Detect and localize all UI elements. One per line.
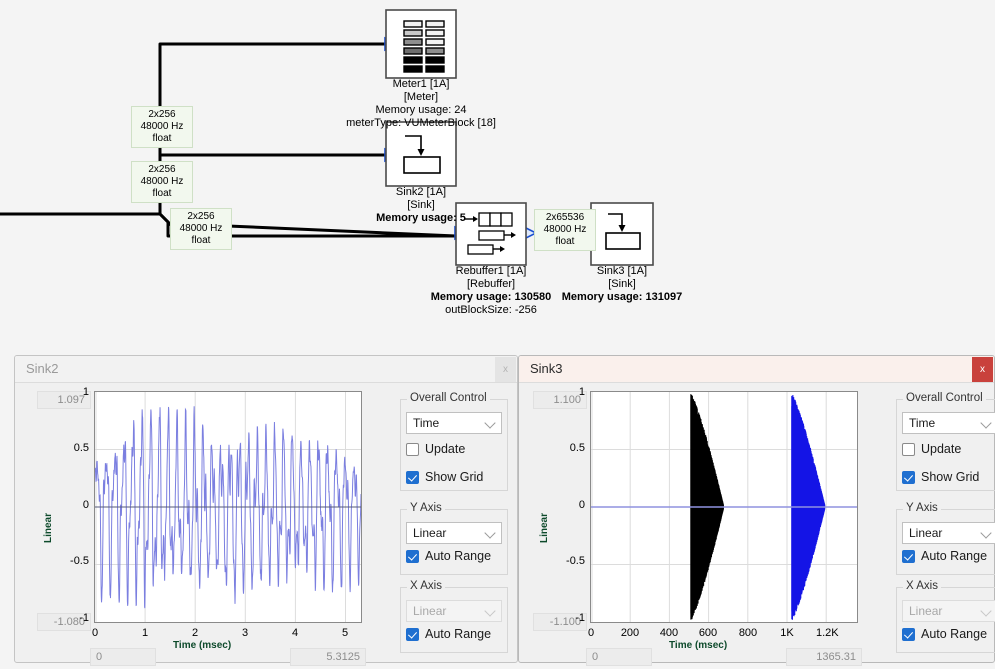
x-axis-title-sink2: X Axis (407, 580, 445, 592)
x-auto-range-checkbox-sink2[interactable] (406, 628, 419, 641)
ytick-sink2-m0p5: -0.5 (53, 555, 89, 567)
scope-window-sink3[interactable]: Sink3 x 1.100 -1.100 0 1365.31 1 0.5 0 -… (518, 355, 995, 663)
meter1-extra: meterType: VUMeterBlock [18] (330, 117, 512, 130)
block-diagram-canvas[interactable]: Meter1 [1A] [Meter] Memory usage: 24 met… (0, 0, 995, 345)
signal-label-3[interactable]: 2x256 48000 Hz float (170, 208, 232, 250)
update-label-sink3: Update (921, 442, 961, 456)
overall-control-title-sink2: Overall Control (407, 392, 490, 404)
y-axis-title-sink2: Y Axis (407, 502, 445, 514)
block-label-sink3: Sink3 [1A] [Sink] Memory usage: 131097 (541, 265, 703, 304)
yaxis-title-sink2: Linear (43, 513, 54, 543)
xtick-sink3-200: 200 (620, 627, 640, 639)
scope-body-sink3: 1.100 -1.100 0 1365.31 1 0.5 0 -0.5 -1 L… (519, 383, 994, 662)
ytick-sink3-1: 1 (549, 386, 585, 398)
plot-area-sink3[interactable] (590, 391, 858, 623)
sink3-type: [Sink] (541, 278, 703, 291)
scope-window-sink2[interactable]: Sink2 x 1.097 -1.080 0 5.3125 1 0.5 0 -0… (14, 355, 518, 663)
ytick-sink2-0p5: 0.5 (53, 442, 89, 454)
xtick-sink3-1p2k: 1.2K (816, 627, 838, 639)
y-scale-select-sink2[interactable]: Linear (406, 522, 502, 544)
ytick-sink2-0: 0 (53, 499, 89, 511)
chevron-down-icon (484, 527, 495, 538)
update-checkbox-row-sink3[interactable]: Update (902, 442, 961, 456)
titlebar-sink2[interactable]: Sink2 x (15, 356, 517, 383)
xaxis-title-sink3: Time (msec) (669, 640, 727, 651)
xtick-sink3-600: 600 (698, 627, 718, 639)
y-auto-range-checkbox-sink2[interactable] (406, 550, 419, 563)
rebuffer1-extra: outBlockSize: -256 (410, 304, 572, 317)
scope-body-sink2: 1.097 -1.080 0 5.3125 1 0.5 0 -0.5 -1 Li… (15, 383, 517, 662)
xtick-sink2-4: 4 (285, 627, 305, 639)
y-auto-range-checkbox-sink3[interactable] (902, 550, 915, 563)
x-auto-range-row-sink3[interactable]: Auto Range (902, 627, 987, 641)
y-scale-select-sink3[interactable]: Linear (902, 522, 995, 544)
ytick-sink3-m1: -1 (549, 612, 585, 624)
ytick-sink3-0p5: 0.5 (549, 442, 585, 454)
update-checkbox-row-sink2[interactable]: Update (406, 442, 465, 456)
sink3-memory: Memory usage: 131097 (541, 291, 703, 304)
ytick-sink2-m1: -1 (53, 612, 89, 624)
ytick-sink3-0: 0 (549, 499, 585, 511)
chevron-down-icon (484, 417, 495, 428)
meter1-memory: Memory usage: 24 (330, 104, 512, 117)
yaxis-title-sink3: Linear (539, 513, 550, 543)
chevron-down-icon (980, 605, 991, 616)
mode-select-sink3[interactable]: Time (902, 412, 995, 434)
chevron-down-icon (484, 605, 495, 616)
window-title-sink3: Sink3 (530, 361, 563, 376)
x-max-readout-sink3: 1365.31 (786, 648, 862, 666)
titlebar-sink3[interactable]: Sink3 x (519, 356, 994, 383)
xtick-sink2-2: 2 (185, 627, 205, 639)
xtick-sink2-1: 1 (135, 627, 155, 639)
y-auto-range-label-sink3: Auto Range (921, 549, 987, 563)
ytick-sink3-m0p5: -0.5 (549, 555, 585, 567)
ytick-sink2-1: 1 (53, 386, 89, 398)
block-label-meter1: Meter1 [1A] [Meter] Memory usage: 24 met… (330, 78, 512, 130)
close-icon[interactable]: x (972, 357, 993, 382)
x-min-readout-sink3: 0 (586, 648, 652, 666)
chevron-down-icon (980, 417, 991, 428)
sink2-type: [Sink] (340, 199, 502, 212)
xtick-sink3-800: 800 (738, 627, 758, 639)
y-auto-range-row-sink2[interactable]: Auto Range (406, 549, 491, 563)
plot-canvas-sink3 (591, 392, 857, 622)
x-auto-range-row-sink2[interactable]: Auto Range (406, 627, 491, 641)
xaxis-title-sink2: Time (msec) (173, 640, 231, 651)
xtick-sink2-0: 0 (85, 627, 105, 639)
close-icon[interactable]: x (495, 357, 516, 382)
xtick-sink3-1k: 1K (777, 627, 797, 639)
x-min-readout-sink2: 0 (90, 648, 156, 666)
mode-select-sink2[interactable]: Time (406, 412, 502, 434)
window-title-sink2: Sink2 (26, 361, 59, 376)
y-auto-range-row-sink3[interactable]: Auto Range (902, 549, 987, 563)
xtick-sink2-3: 3 (235, 627, 255, 639)
block-label-sink2: Sink2 [1A] [Sink] Memory usage: 5 (340, 186, 502, 225)
x-scale-select-sink2: Linear (406, 600, 502, 622)
show-grid-label-sink3: Show Grid (921, 470, 979, 484)
xtick-sink3-0: 0 (581, 627, 601, 639)
y-auto-range-label-sink2: Auto Range (425, 549, 491, 563)
sink3-name: Sink3 [1A] (541, 265, 703, 278)
update-label-sink2: Update (425, 442, 465, 456)
xtick-sink3-400: 400 (659, 627, 679, 639)
x-max-readout-sink2: 5.3125 (290, 648, 366, 666)
show-grid-checkbox-sink2[interactable] (406, 471, 419, 484)
x-auto-range-checkbox-sink3[interactable] (902, 628, 915, 641)
x-auto-range-label-sink2: Auto Range (425, 627, 491, 641)
overall-control-title-sink3: Overall Control (903, 392, 986, 404)
show-grid-checkbox-sink3[interactable] (902, 471, 915, 484)
update-checkbox-sink2[interactable] (406, 443, 419, 456)
sink2-name: Sink2 [1A] (340, 186, 502, 199)
control-panel-sink2: Overall Control Time Update Show Grid Y … (378, 391, 506, 669)
show-grid-checkbox-row-sink2[interactable]: Show Grid (406, 470, 483, 484)
xtick-sink2-5: 5 (335, 627, 355, 639)
plot-canvas-sink2 (95, 392, 361, 622)
control-panel-sink3: Overall Control Time Update Show Grid Y … (874, 391, 995, 669)
chevron-down-icon (980, 527, 991, 538)
y-axis-title-sink3: Y Axis (903, 502, 941, 514)
x-axis-title-sink3: X Axis (903, 580, 941, 592)
x-scale-select-sink3: Linear (902, 600, 995, 622)
meter1-type: [Meter] (330, 91, 512, 104)
x-auto-range-label-sink3: Auto Range (921, 627, 987, 641)
sink2-memory: Memory usage: 5 (340, 212, 502, 225)
meter1-name: Meter1 [1A] (330, 78, 512, 91)
signal-label-4[interactable]: 2x65536 48000 Hz float (534, 209, 596, 251)
plot-area-sink2[interactable] (94, 391, 362, 623)
signal-label-1[interactable]: 2x256 48000 Hz float (131, 106, 193, 148)
signal-label-2[interactable]: 2x256 48000 Hz float (131, 161, 193, 203)
show-grid-checkbox-row-sink3[interactable]: Show Grid (902, 470, 979, 484)
show-grid-label-sink2: Show Grid (425, 470, 483, 484)
update-checkbox-sink3[interactable] (902, 443, 915, 456)
